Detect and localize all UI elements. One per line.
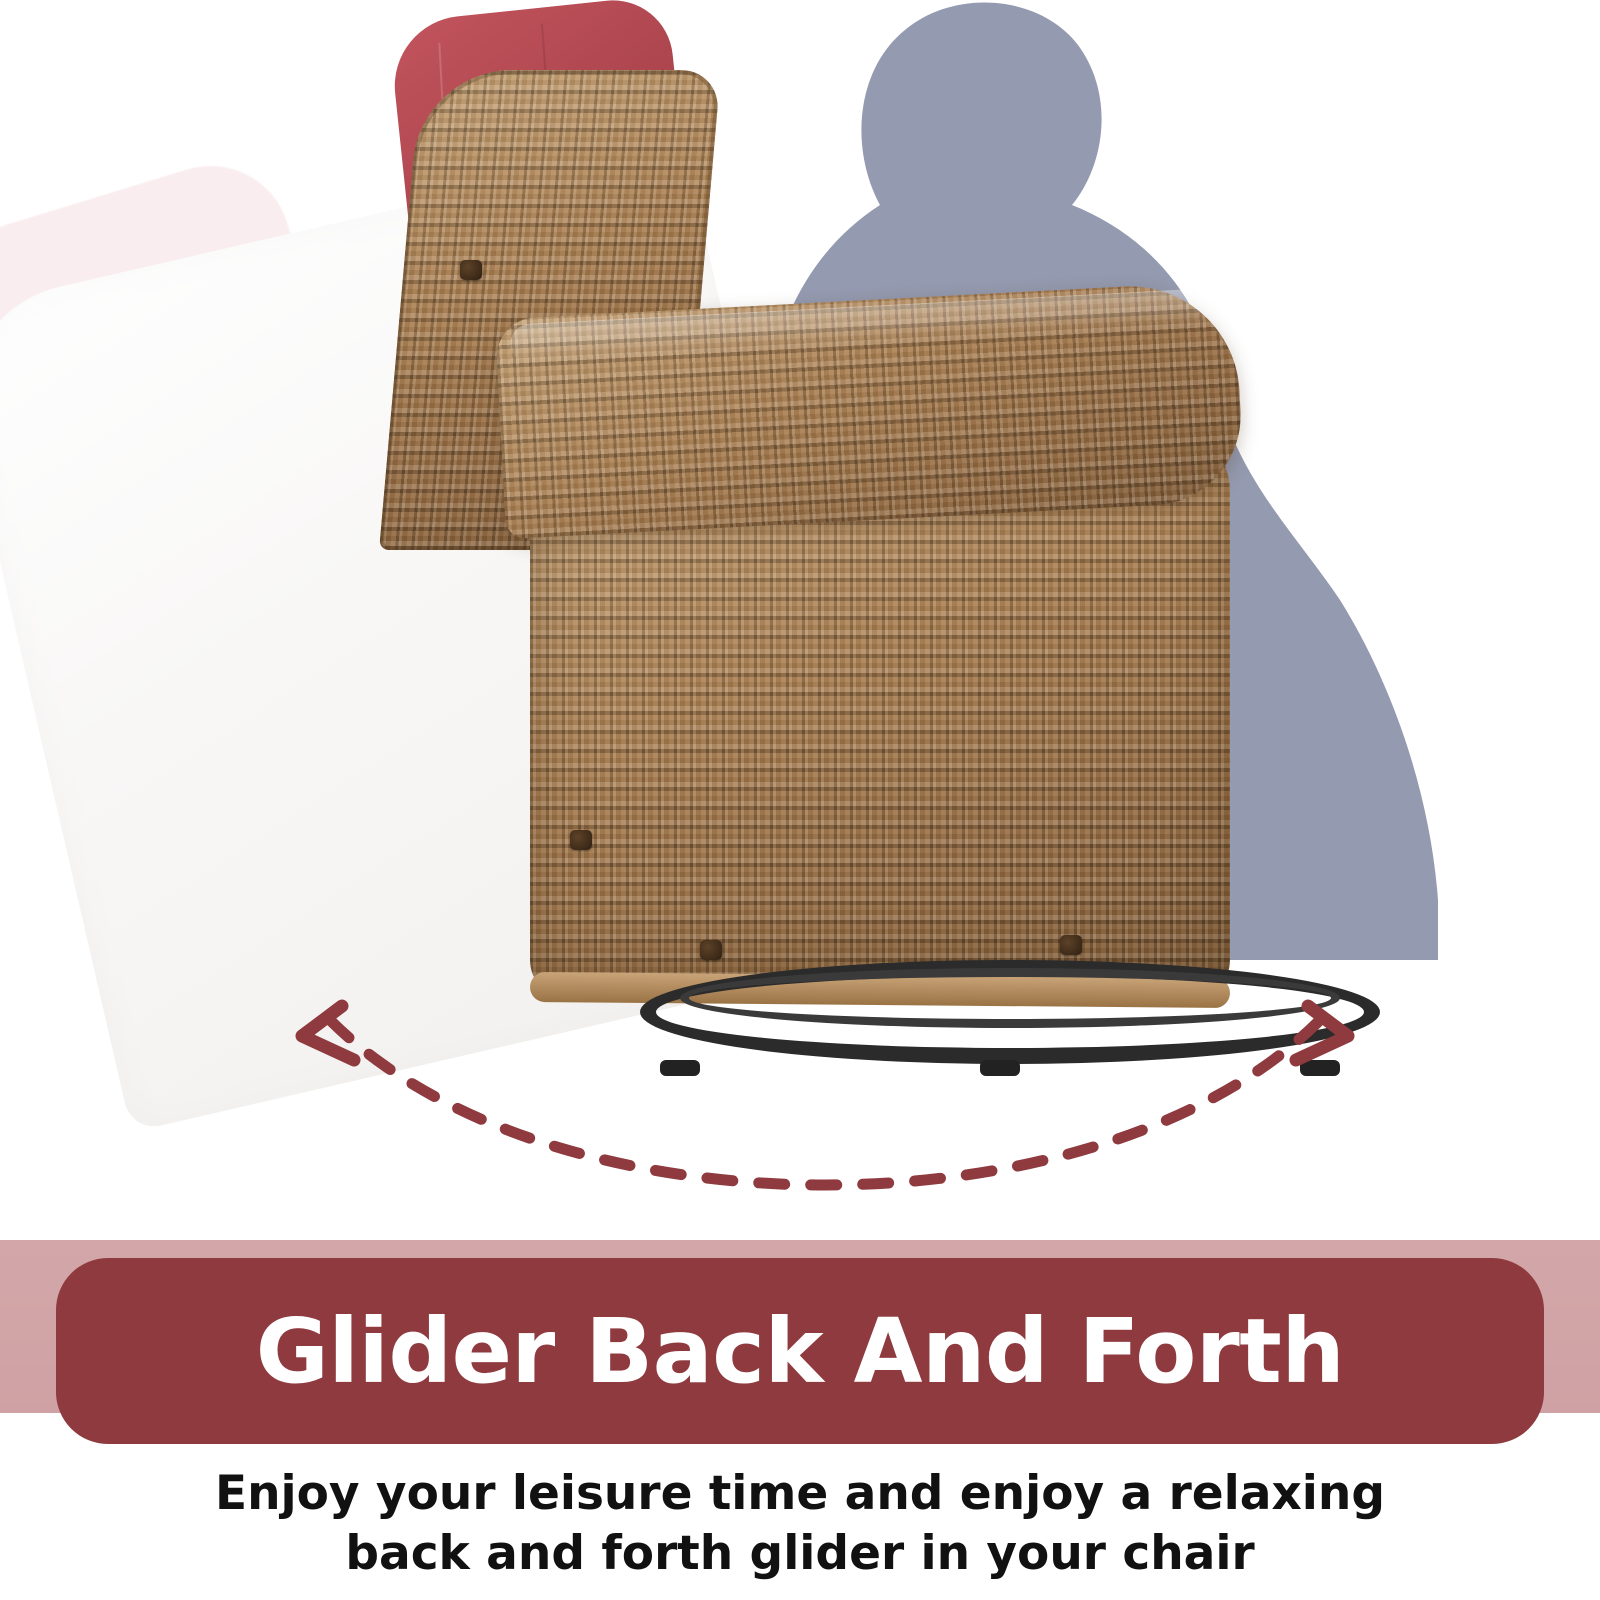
wicker-chair (380, 70, 1280, 1000)
frame-bolt-icon (460, 260, 482, 280)
headline-text: Glider Back And Forth (256, 1299, 1344, 1403)
frame-bolt-icon (570, 830, 592, 850)
frame-bolt-icon (1060, 935, 1082, 955)
subtext-line-1: Enjoy your leisure time and enjoy a rela… (0, 1464, 1600, 1524)
subtext-line-2: back and forth glider in your chair (0, 1524, 1600, 1584)
headline-pill: Glider Back And Forth (56, 1258, 1544, 1444)
product-image (0, 0, 1600, 1240)
subtext-block: Enjoy your leisure time and enjoy a rela… (0, 1464, 1600, 1584)
caption-band: Glider Back And Forth Enjoy your leisure… (0, 1240, 1600, 1600)
glide-motion-arrow (250, 990, 1400, 1220)
frame-bolt-icon (700, 940, 722, 960)
